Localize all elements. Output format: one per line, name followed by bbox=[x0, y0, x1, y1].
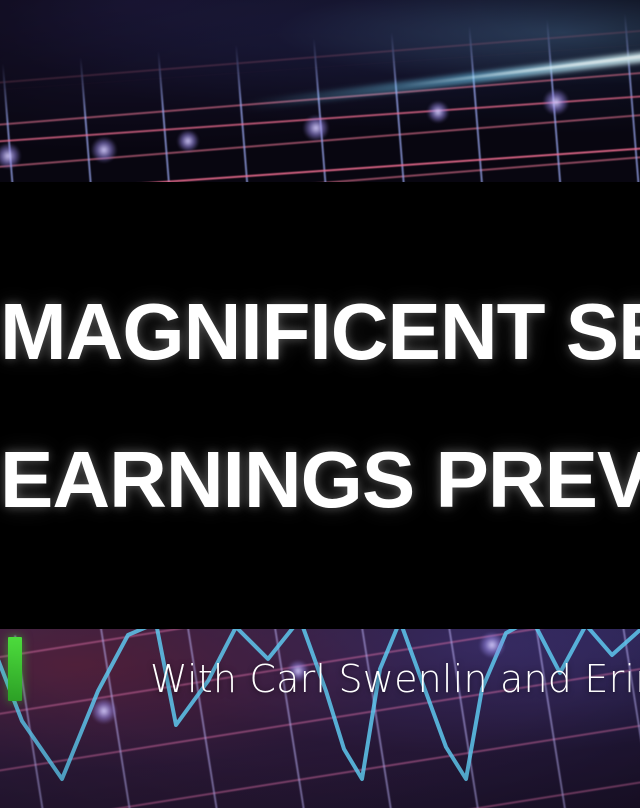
bottom-background-band bbox=[0, 629, 640, 808]
top-background-band bbox=[0, 0, 640, 182]
title-line-1: MAGNIFICENT SE bbox=[0, 292, 640, 372]
subtitle-presenters: With Carl Swenlin and Erin Swenl bbox=[148, 657, 640, 701]
title-card-stage: MAGNIFICENT SE EARNINGS PREV With Carl S… bbox=[0, 0, 640, 808]
title-text-block: MAGNIFICENT SE EARNINGS PREV bbox=[0, 182, 640, 629]
price-line-path bbox=[0, 629, 640, 779]
title-line-2: EARNINGS PREV bbox=[0, 440, 640, 520]
green-candle-bar bbox=[8, 637, 22, 701]
zigzag-price-line-chart bbox=[0, 629, 640, 808]
